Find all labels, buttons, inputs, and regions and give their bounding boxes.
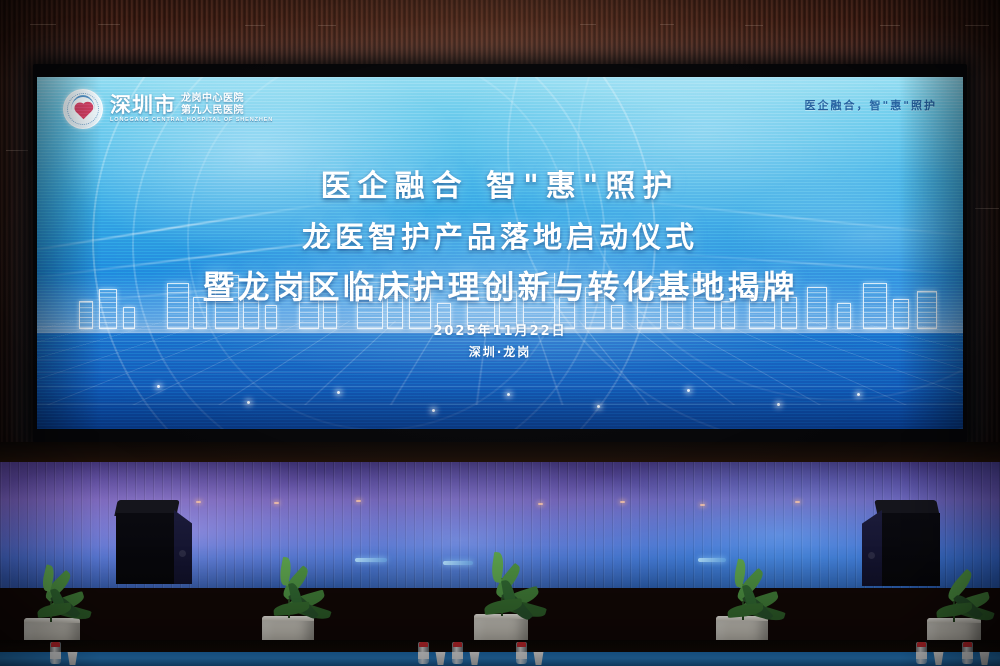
bottle-label	[418, 652, 429, 659]
floor-reflection	[196, 501, 201, 503]
node-dot	[432, 409, 435, 412]
floor-cable-strip	[355, 558, 387, 562]
node-dot	[507, 393, 510, 396]
wall-seam	[880, 25, 900, 26]
wall-seam	[580, 24, 596, 25]
hospital-seal-icon	[63, 89, 103, 129]
node-dot	[337, 391, 340, 394]
wall-seam	[965, 25, 989, 26]
monitor-connector	[179, 550, 186, 557]
logo-hospital-line-1: 龙岗中心医院	[181, 94, 244, 105]
wall-seam	[98, 24, 120, 25]
water-bottle	[452, 642, 463, 664]
node-dot	[687, 389, 690, 392]
node-dot	[597, 405, 600, 408]
bottle-cap	[453, 642, 462, 647]
floor-reflection	[356, 500, 361, 502]
corner-slogan: 医企融合，智"惠"照护	[805, 97, 937, 113]
logo-city-name: 深圳市	[110, 95, 176, 116]
node-dot	[157, 385, 160, 388]
bottle-label	[452, 652, 463, 659]
event-date: 2025年11月22日	[37, 320, 963, 339]
monitor-front-grille	[116, 513, 178, 584]
bottle-label	[916, 652, 927, 659]
bottle-label	[962, 652, 973, 659]
floor-reflection	[700, 504, 705, 506]
event-location: 深圳·龙岗	[37, 343, 963, 360]
title-line-1: 医企融合 智"惠"照护	[37, 161, 963, 205]
led-screen: 深圳市 龙岗中心医院 第九人民医院 LONGGANG CENTRAL HOSPI…	[37, 77, 963, 429]
wall-seam	[30, 24, 56, 25]
bottle-cap	[517, 642, 526, 647]
wall-seam	[660, 24, 674, 25]
floor-reflection	[274, 502, 279, 504]
front-table-surface	[0, 652, 1000, 666]
wall-seam	[318, 25, 336, 26]
hospital-logo: 深圳市 龙岗中心医院 第九人民医院 LONGGANG CENTRAL HOSPI…	[63, 89, 273, 129]
stage-monitor-left	[116, 500, 194, 584]
hospital-logo-text: 深圳市 龙岗中心医院 第九人民医院 LONGGANG CENTRAL HOSPI…	[110, 94, 273, 124]
bottle-label	[516, 652, 527, 659]
wall-seam	[745, 25, 763, 26]
bottle-cap	[963, 642, 972, 647]
logo-english-name: LONGGANG CENTRAL HOSPITAL OF SHENZHEN	[110, 118, 273, 124]
title-line-2: 龙医智护产品落地启动仪式	[37, 214, 963, 256]
wall-seam	[245, 25, 265, 26]
bottle-cap	[419, 642, 428, 647]
node-dot	[777, 403, 780, 406]
water-bottle	[418, 642, 429, 664]
node-dot	[247, 401, 250, 404]
wall-seam	[6, 150, 28, 151]
floor-reflection	[620, 501, 625, 503]
title-line-3: 暨龙岗区临床护理创新与转化基地揭牌	[37, 262, 963, 308]
monitor-side-panel	[862, 510, 882, 586]
water-bottle	[516, 642, 527, 664]
monitor-connector	[868, 552, 875, 559]
floor-reflection	[795, 501, 800, 503]
wall-seam	[975, 208, 999, 209]
bottle-cap	[917, 642, 926, 647]
floor-reflection	[538, 503, 543, 505]
water-bottle	[962, 642, 973, 664]
water-bottle	[50, 642, 61, 664]
bottle-label	[50, 652, 61, 659]
logo-hospital-line-2: 第九人民医院	[181, 106, 244, 117]
bottle-cap	[51, 642, 60, 647]
auditorium-scene: 深圳市 龙岗中心医院 第九人民医院 LONGGANG CENTRAL HOSPI…	[0, 0, 1000, 666]
node-dot	[857, 393, 860, 396]
monitor-side-panel	[174, 510, 192, 584]
event-title-block: 医企融合 智"惠"照护 龙医智护产品落地启动仪式 暨龙岗区临床护理创新与转化基地…	[37, 161, 963, 360]
water-bottle	[916, 642, 927, 664]
pot-rim	[24, 618, 80, 623]
